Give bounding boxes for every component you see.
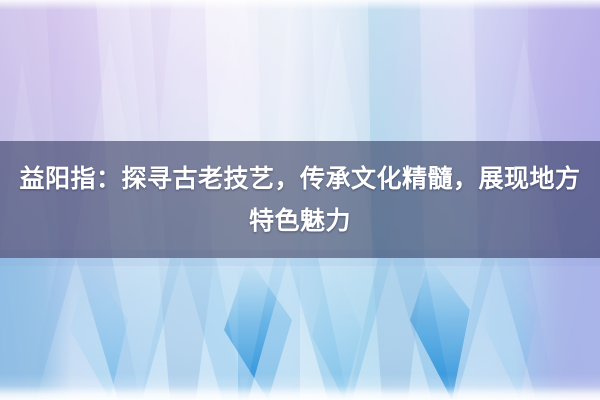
- banner-title: 益阳指：探寻古老技艺，传承文化精髓，展现地方特色魅力: [8, 158, 592, 242]
- title-band: 益阳指：探寻古老技艺，传承文化精髓，展现地方特色魅力: [0, 141, 600, 258]
- promo-banner: 益阳指：探寻古老技艺，传承文化精髓，展现地方特色魅力: [0, 0, 600, 400]
